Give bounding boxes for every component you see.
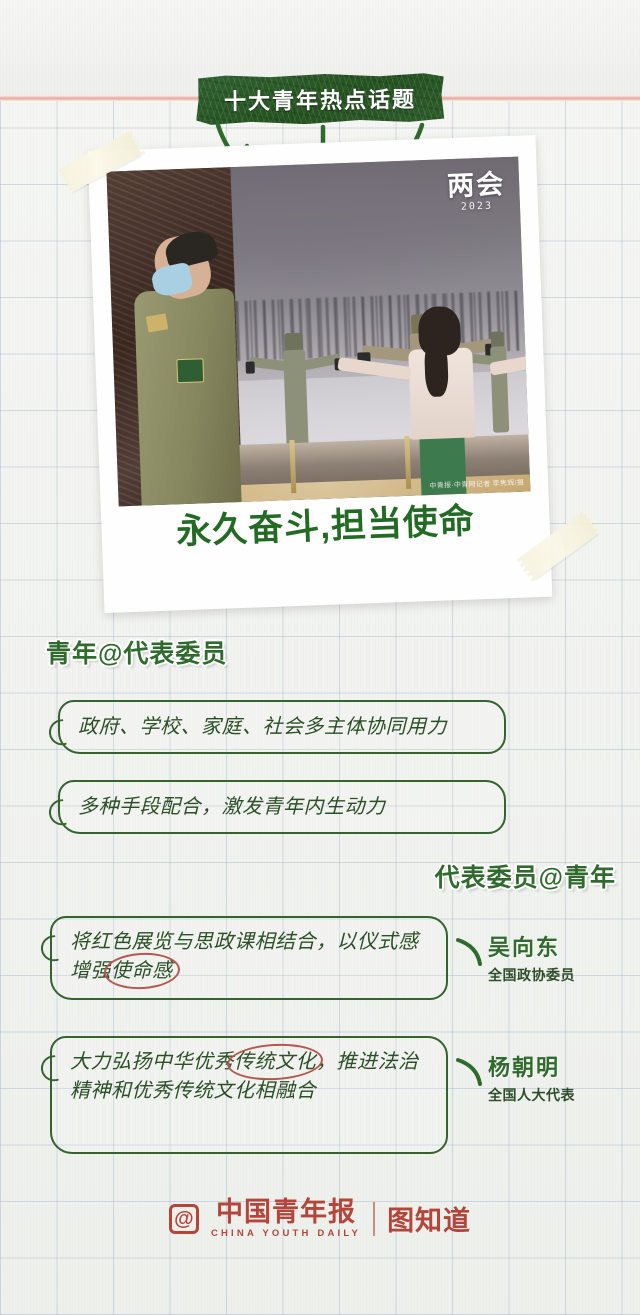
soldier-shoulder-tab — [146, 313, 168, 332]
lianghui-year: 2023 — [448, 200, 506, 213]
quote-bubble-2: 多种手段配合，激发青年内生动力 — [58, 780, 506, 834]
header-banner-shape: 十大青年热点话题 — [196, 72, 445, 125]
speaker-name-1: 吴向东 — [488, 930, 575, 962]
section-heading-delegates-to-youth: 代表委员@青年 — [435, 858, 616, 894]
lianghui-title: 两会 — [447, 171, 506, 200]
quote-text-2: 多种手段配合，激发青年内生动力 — [60, 787, 400, 828]
column-name: 图知道 — [387, 1199, 471, 1238]
brand-lockup: 中国青年报 CHINA YOUTH DAILY — [211, 1198, 361, 1239]
brand-name-en: CHINA YOUTH DAILY — [211, 1228, 361, 1239]
speaker-title-2: 全国人大代表 — [488, 1085, 575, 1105]
header-banner: 十大青年热点话题 — [196, 72, 445, 125]
brand-name-cn: 中国青年报 — [216, 1198, 356, 1226]
speaker-name-2: 杨朝明 — [488, 1050, 575, 1082]
leaf-swoosh-icon — [456, 1056, 484, 1086]
lianghui-watermark: 两会 2023 — [447, 171, 506, 213]
header-banner-title: 十大青年热点话题 — [224, 82, 416, 116]
section-heading-youth-to-delegates: 青年@代表委员 — [46, 634, 227, 670]
girl-head — [417, 306, 461, 356]
soldier-visitor — [125, 234, 250, 506]
girl-visitor — [375, 304, 522, 497]
quote-bubble-3: 将红色展览与思政课相结合，以仪式感增强使命感 — [50, 916, 448, 1000]
exhibition-photo: 两会 2023 中青报·中青网记者 李隽辉/摄 — [106, 157, 530, 507]
speaker-block-2: 杨朝明 全国人大代表 — [488, 1050, 575, 1105]
quote-text-4-before: 大力弘扬中华优秀 — [70, 1051, 234, 1073]
speaker-block-1: 吴向东 全国政协委员 — [488, 930, 575, 985]
quote-text-1: 政府、学校、家庭、社会多主体协同用力 — [60, 707, 461, 748]
quote-text-3: 将红色展览与思政课相结合，以仪式感增强使命感 — [52, 918, 446, 992]
quote-bubble-4: 大力弘扬中华优秀传统文化，推进法治精神和优秀传统文化相融合 — [50, 1036, 448, 1154]
quote-bubble-1: 政府、学校、家庭、社会多主体协同用力 — [58, 700, 506, 754]
logo-divider — [373, 1202, 375, 1236]
at-symbol-icon: @ — [169, 1204, 199, 1234]
soldier-badge — [176, 359, 205, 384]
footer-logo: @ 中国青年报 CHINA YOUTH DAILY 图知道 — [0, 1198, 640, 1239]
mural-figure-1 — [248, 331, 343, 448]
leaf-swoosh-icon — [456, 936, 484, 966]
quote-highlight-4: 传统文化 — [234, 1048, 316, 1077]
speaker-title-1: 全国政协委员 — [488, 965, 575, 985]
quote-text-4: 大力弘扬中华优秀传统文化，推进法治精神和优秀传统文化相融合 — [52, 1038, 446, 1112]
quote-highlight-3: 使命感 — [111, 957, 173, 986]
polaroid-card: 两会 2023 中青报·中青网记者 李隽辉/摄 永久奋斗,担当使命 — [88, 135, 553, 613]
